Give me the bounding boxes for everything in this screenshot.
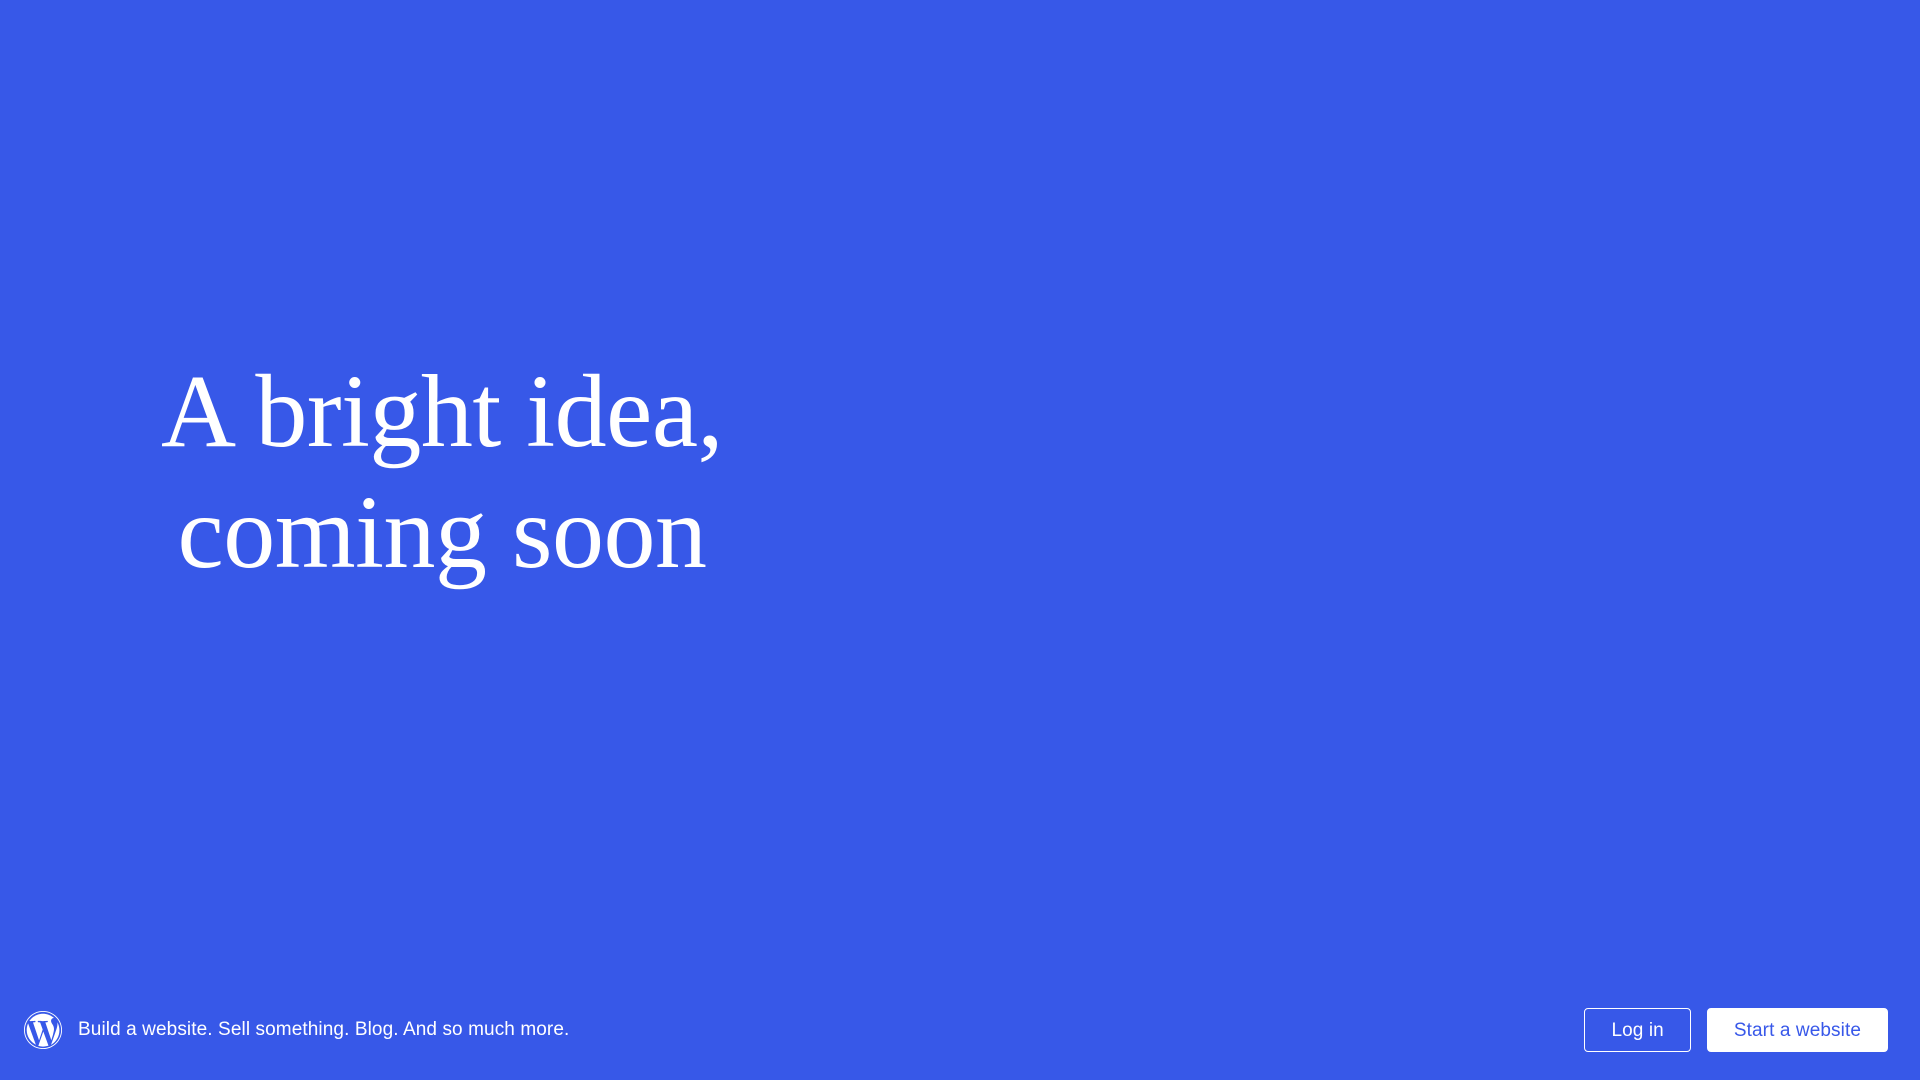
hero-section: A bright idea, coming soon: [0, 0, 1920, 980]
hero-content: A bright idea, coming soon: [0, 386, 820, 593]
page-title: A bright idea, coming soon: [64, 352, 820, 593]
login-button[interactable]: Log in: [1584, 1008, 1690, 1052]
footer-branding: Build a website. Sell something. Blog. A…: [24, 1011, 569, 1049]
footer-tagline: Build a website. Sell something. Blog. A…: [78, 1018, 569, 1043]
start-a-website-button[interactable]: Start a website: [1707, 1008, 1888, 1052]
footer-bar: Build a website. Sell something. Blog. A…: [0, 980, 1920, 1080]
wordpress-logo-icon[interactable]: [24, 1011, 62, 1049]
coming-soon-page: A bright idea, coming soon Build a websi…: [0, 0, 1920, 1080]
footer-actions: Log in Start a website: [1584, 1008, 1888, 1052]
